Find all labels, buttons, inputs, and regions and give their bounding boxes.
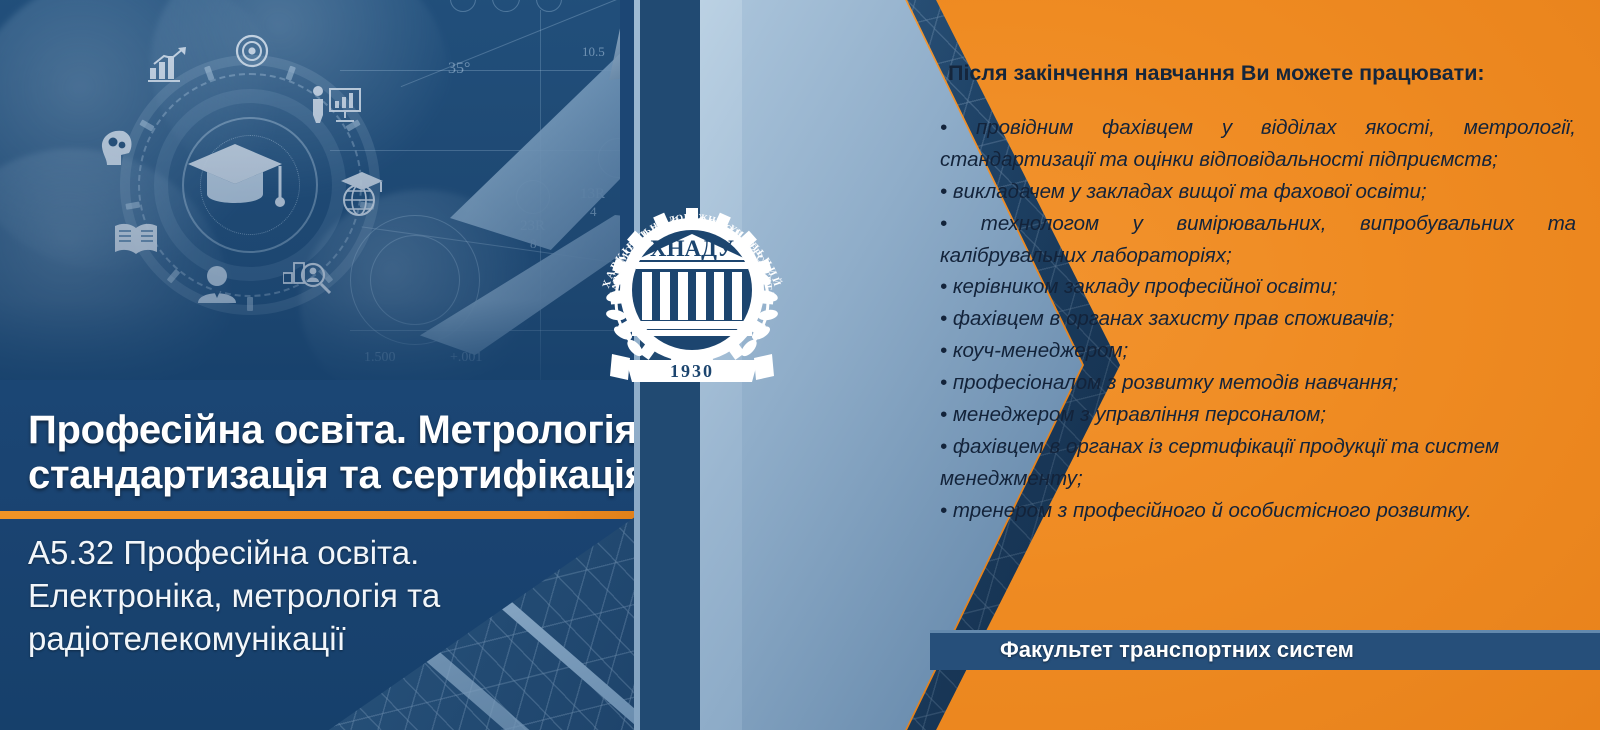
career-item: • фахівцем в органах захисту прав спожив… [940,303,1576,335]
blueprint-drawing: 35° 10.5 13R 23R 4 8 1.500 +.001 [330,0,620,400]
blueprint-label: 23R [520,218,545,235]
career-item: • тренером з професійного й особистісног… [940,495,1576,527]
person-avatar-icon [196,265,238,303]
career-item: • фахівцем в органах із сертифікації про… [940,431,1576,495]
metal-blade-shape [420,215,620,355]
title-line-2: стандартизація та сертифікація [28,453,688,498]
university-logo: ХНАДУ 1930 ХАРКІВСЬКИЙ НАЦІОНАЛЬНИЙ АВТО… [592,182,792,392]
presenter-icon [310,85,362,125]
education-photo-collage: 35° 10.5 13R 23R 4 8 1.500 +.001 [0,0,620,400]
career-item: • провідним фахівцем у відділах якості, … [940,112,1576,176]
career-item: • керівником закладу професійної освіти; [940,271,1576,303]
blueprint-label: 1.500 [364,350,396,366]
subtitle-line-1: А5.32 Професійна освіта. [28,532,628,575]
career-list: • провідним фахівцем у відділах якості, … [940,112,1576,526]
hand-silhouette [0,0,328,314]
candidate-search-icon [283,255,331,295]
career-item: • технологом у вимірювальних, випробувал… [940,208,1576,272]
orange-divider [0,511,640,519]
career-item: • викладачем у закладах вищої та фахової… [940,176,1576,208]
hand-silhouette [126,0,474,228]
title-line-1: Професійна освіта. Метрологія, [28,408,688,453]
banner-highlight [930,630,1600,633]
hud-rings [120,55,380,315]
blueprint-label: 35° [448,60,470,78]
open-book-icon [113,222,159,256]
career-heading: Після закінчення навчання Ви можете прац… [948,60,1578,87]
bar-chart-growth-icon [148,46,190,82]
banner-root: 35° 10.5 13R 23R 4 8 1.500 +.001 [0,0,1600,730]
laptop-shape [591,0,620,104]
hand-silhouette [286,174,554,400]
blueprint-label: 8 [530,236,537,252]
logo-abbreviation: ХНАДУ [650,236,734,261]
career-item: • менеджером з управління персоналом; [940,399,1576,431]
blueprint-label: 10.5 [582,44,605,60]
logo-year: 1930 [670,361,714,381]
career-item: • професіоналом з розвитку методів навча… [940,367,1576,399]
graduation-cap-icon [185,140,285,218]
career-item: • коуч-менеджером; [940,335,1576,367]
brain-gears-icon [95,125,137,167]
faculty-label: Факультет транспортних систем [1000,637,1354,663]
page-title: Професійна освіта. Метрологія, стандарти… [28,408,688,498]
hand-silhouette [0,104,272,400]
blueprint-label: +.001 [450,350,482,366]
target-icon [235,34,269,68]
globe-cap-icon [338,170,384,218]
